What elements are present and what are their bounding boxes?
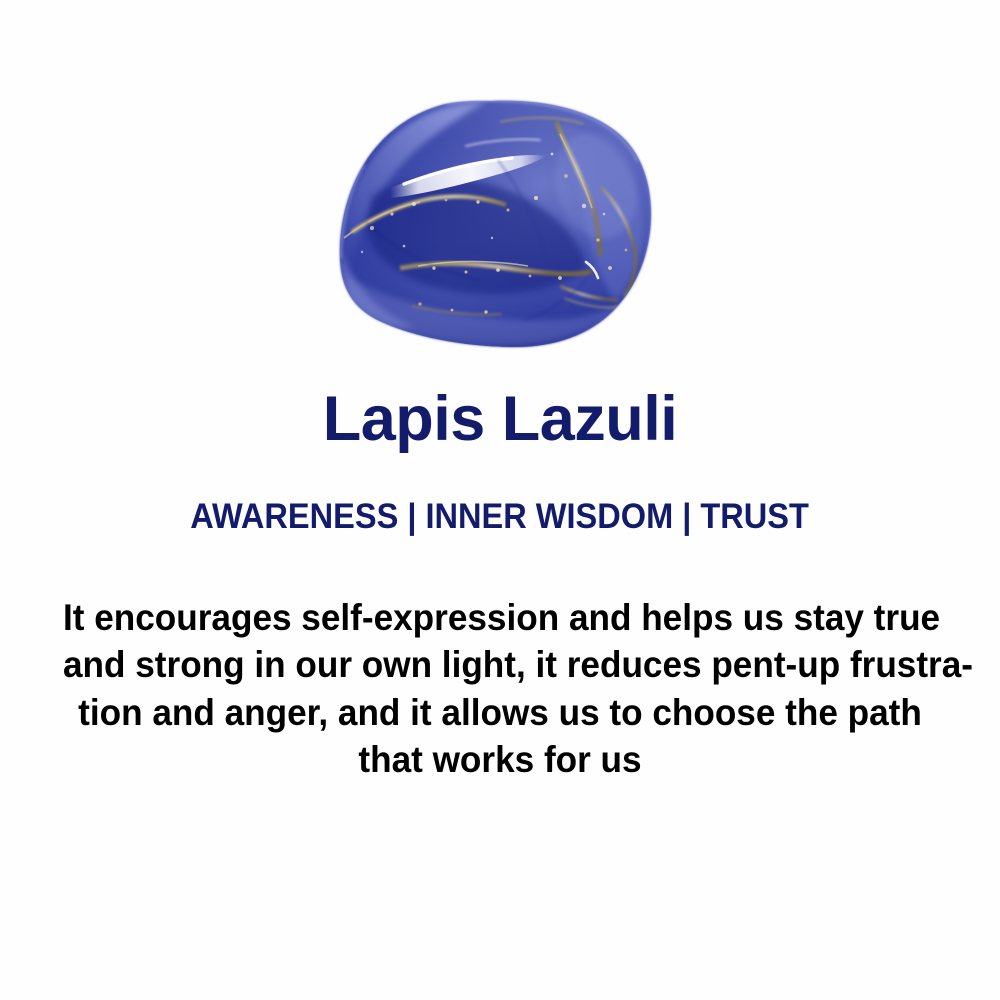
description-line-4: that works for us	[63, 736, 937, 783]
description-line-3: tion and anger, and it allows us to choo…	[63, 689, 937, 736]
lapis-lazuli-stone-icon	[0, 0, 1000, 360]
page-title: Lapis Lazuli	[323, 388, 678, 451]
description-text: It encourages self-expression and helps …	[40, 594, 960, 783]
crystal-info-card: Lapis Lazuli AWARENESS | INNER WISDOM | …	[0, 0, 1000, 1000]
keywords-subtitle: AWARENESS | INNER WISDOM | TRUST	[191, 499, 810, 534]
description-line-1: It encourages self-expression and helps …	[63, 594, 937, 641]
description-line-2: and strong in our own light, it reduces …	[63, 641, 937, 688]
stone-image-container	[0, 0, 1000, 360]
